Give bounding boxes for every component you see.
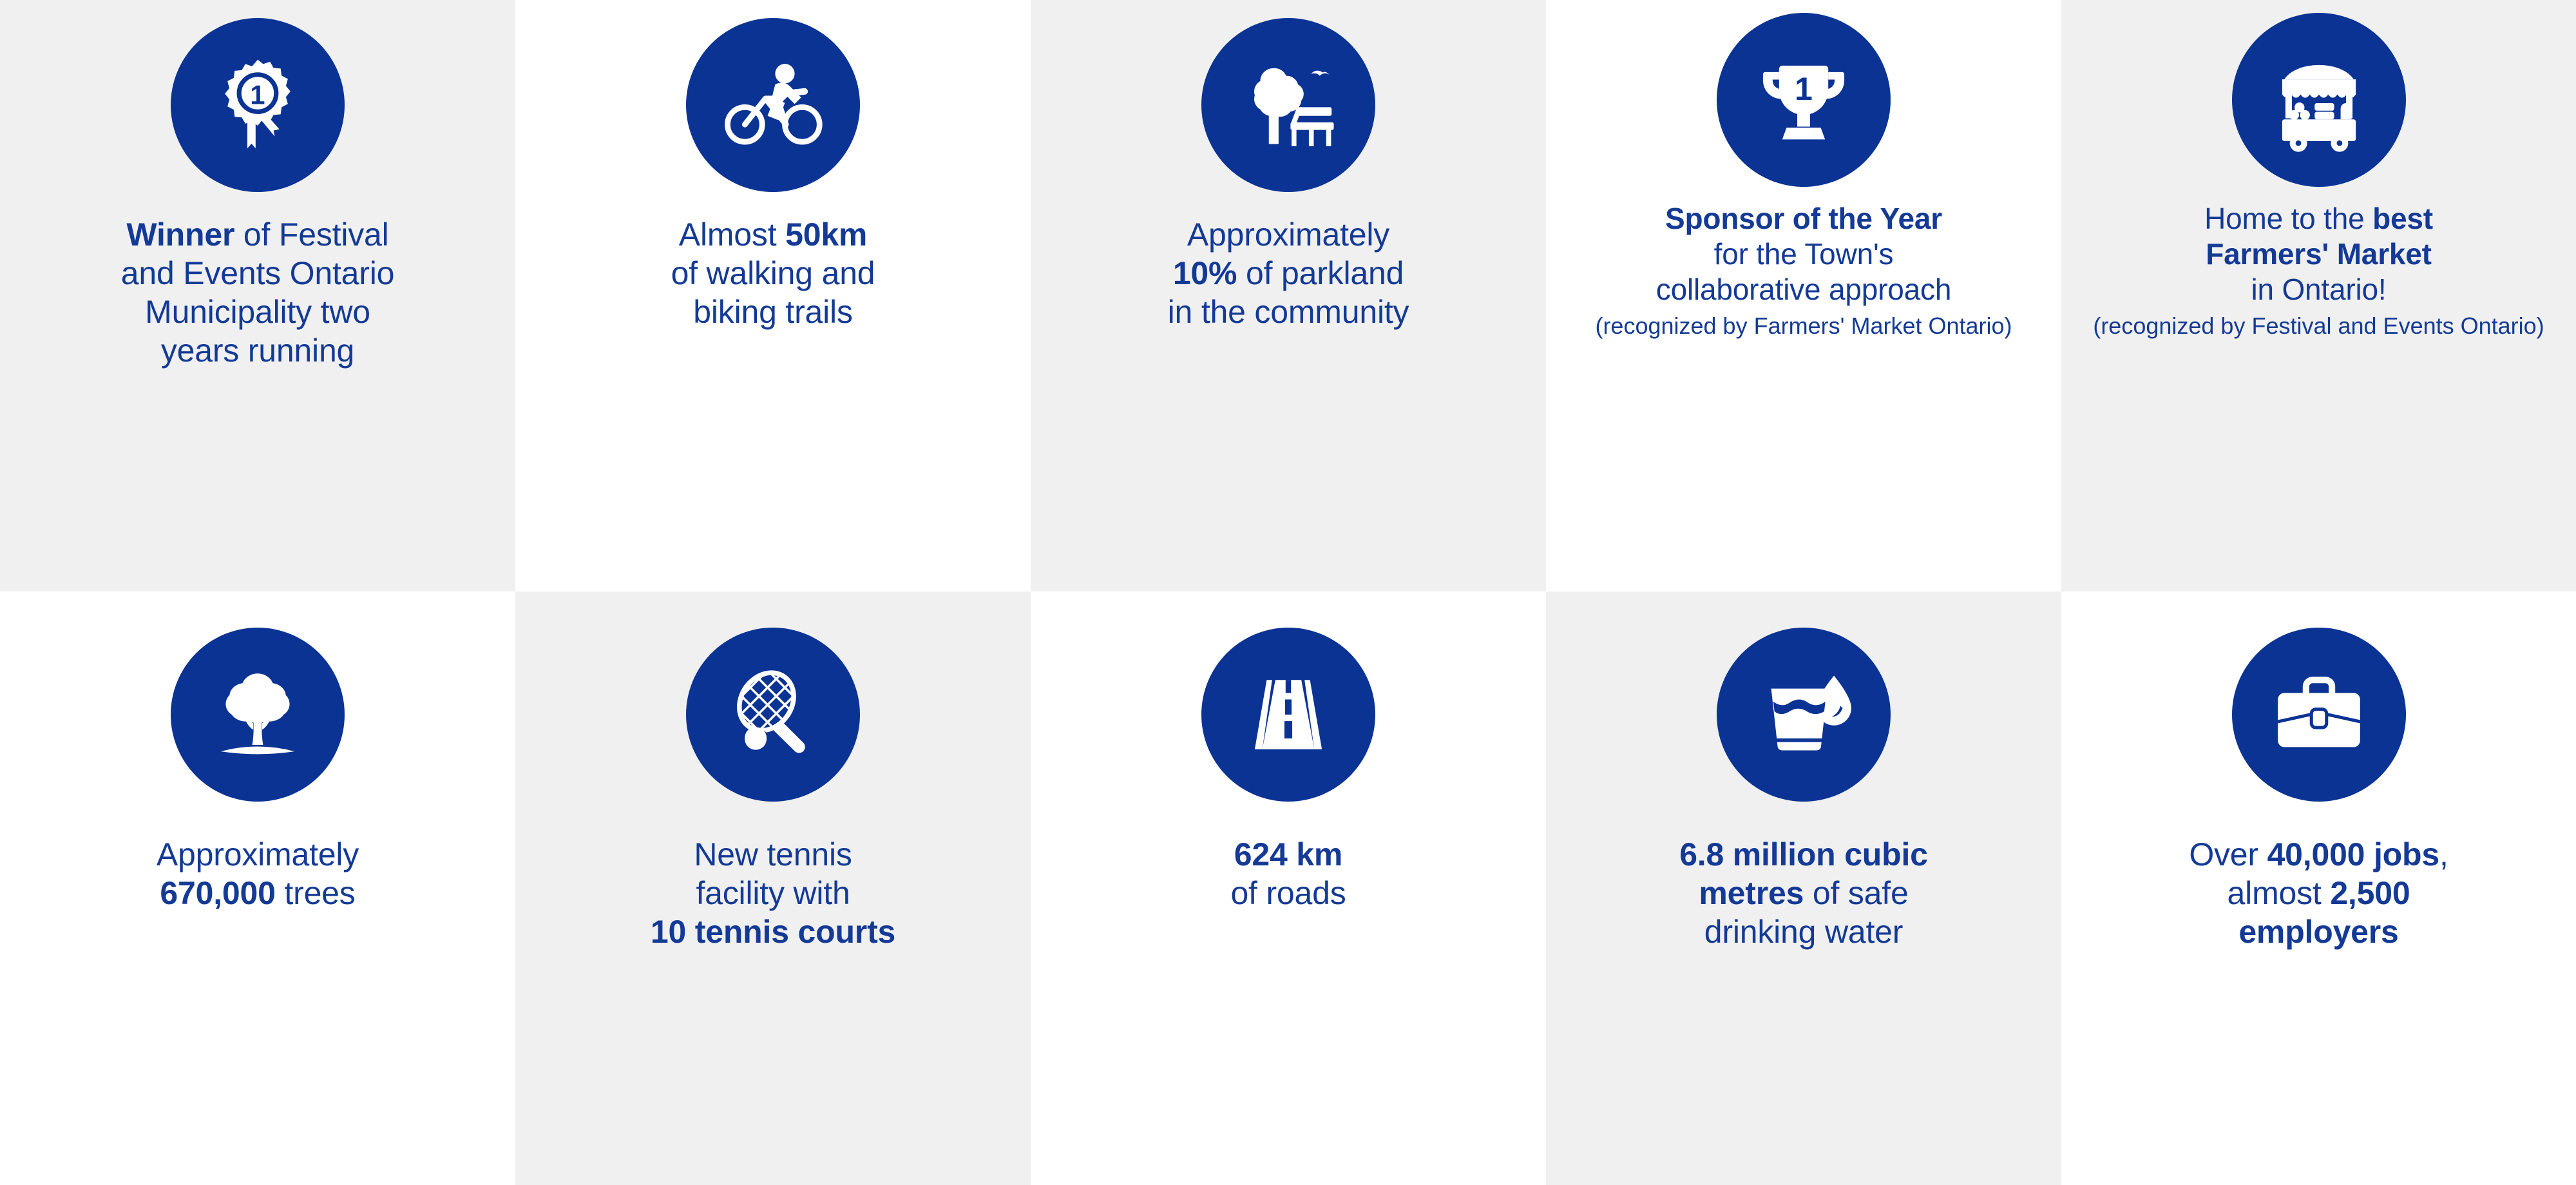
stat-cell-tennis-facility: New tennisfacility with10 tennis courts (515, 592, 1031, 1185)
stat-text-segment: trees (276, 875, 356, 911)
stat-text-segment: years running (161, 332, 354, 369)
stat-text-segment: Approximately (1187, 217, 1389, 253)
stat-text-walking-biking-trails: Almost 50kmof walking andbiking trails (532, 215, 1014, 331)
icon-badge-drinking-water (1717, 628, 1891, 802)
stat-caption-winner-festival-events: Winner of Festivaland Events OntarioMuni… (0, 215, 515, 370)
stat-text-segment: metres (1699, 875, 1804, 911)
stat-text-segment: New tennis (694, 836, 852, 872)
icon-badge-sponsor-of-the-year: 1 (1717, 13, 1891, 187)
stat-text-segment: of roads (1230, 875, 1346, 911)
icon-badge-roads-length (1201, 628, 1375, 802)
stat-text-segment: 624 km (1234, 836, 1342, 872)
stat-text-segment: Farmers' Market (2206, 237, 2432, 271)
icon-badge-tennis-facility (686, 628, 860, 802)
stat-text-trees-count: Approximately670,000 trees (17, 835, 499, 912)
stat-caption-jobs-employers: Over 40,000 jobs,almost 2,500employers (2061, 835, 2576, 951)
stat-caption-tennis-facility: New tennisfacility with10 tennis courts (515, 835, 1031, 951)
icon-badge-walking-biking-trails (686, 18, 860, 192)
stat-cell-drinking-water: 6.8 million cubicmetres of safedrinking … (1546, 592, 2061, 1185)
stat-text-segment: collaborative approach (1656, 273, 1951, 306)
stat-note-sponsor-of-the-year: (recognized by Farmers' Market Ontario) (1563, 312, 2045, 340)
stat-text-roads-length: 624 kmof roads (1047, 835, 1529, 912)
stat-text-segment: for the Town's (1714, 237, 1894, 271)
stat-text-segment: best (2372, 202, 2433, 235)
stat-text-jobs-employers: Over 40,000 jobs,almost 2,500employers (2078, 835, 2559, 951)
stat-text-segment: in the community (1168, 294, 1409, 330)
stat-text-segment: biking trails (693, 294, 853, 330)
icon-badge-trees-count (171, 628, 345, 802)
stat-caption-sponsor-of-the-year: Sponsor of the Yearfor the Town'scollabo… (1546, 201, 2061, 340)
stat-cell-winner-festival-events: 1 Winner of Festivaland Events OntarioMu… (0, 0, 515, 592)
stat-text-segment: facility with (696, 875, 850, 911)
stat-caption-best-farmers-market: Home to the bestFarmers' Marketin Ontari… (2061, 201, 2576, 340)
stat-text-segment: 50km (785, 217, 867, 253)
stat-cell-jobs-employers: Over 40,000 jobs,almost 2,500employers (2061, 592, 2576, 1185)
stat-caption-roads-length: 624 kmof roads (1031, 835, 1546, 912)
icon-badge-parkland-percentage (1201, 18, 1375, 192)
stat-cell-best-farmers-market: Home to the bestFarmers' Marketin Ontari… (2061, 0, 2576, 592)
stat-text-segment: 10% (1173, 255, 1237, 291)
stat-text-segment: 6.8 million cubic (1679, 836, 1928, 872)
stat-text-segment: Almost (679, 217, 785, 253)
stat-note-best-farmers-market: (recognized by Festival and Events Ontar… (2078, 312, 2559, 340)
stat-text-segment: of safe (1804, 875, 1908, 911)
tree-bench-bird-icon (1234, 51, 1342, 159)
market-cart-icon (2265, 46, 2373, 154)
icon-badge-jobs-employers (2232, 628, 2406, 802)
stat-caption-trees-count: Approximately670,000 trees (0, 835, 515, 912)
award-ribbon-icon: 1 (206, 53, 309, 157)
stat-text-segment: 10 tennis courts (651, 914, 895, 950)
svg-text:1: 1 (1795, 71, 1813, 107)
stat-text-segment: Home to the (2204, 202, 2372, 235)
single-tree-icon (204, 660, 312, 769)
stat-text-segment: Municipality two (145, 294, 370, 330)
stat-cell-walking-biking-trails: Almost 50kmof walking andbiking trails (515, 0, 1031, 592)
stat-text-segment: Over (2189, 836, 2267, 872)
stat-text-segment: Sponsor of the Year (1665, 202, 1942, 235)
stat-text-segment: almost (2228, 875, 2331, 911)
stat-caption-walking-biking-trails: Almost 50kmof walking andbiking trails (515, 215, 1031, 331)
stat-text-segment: Approximately (157, 836, 359, 872)
stat-cell-parkland-percentage: Approximately10% of parklandin the commu… (1031, 0, 1546, 592)
stat-text-segment: in Ontario! (2251, 273, 2386, 306)
stat-text-drinking-water: 6.8 million cubicmetres of safedrinking … (1563, 835, 2045, 951)
stat-text-segment: of parkland (1237, 255, 1404, 291)
stat-text-sponsor-of-the-year: Sponsor of the Yearfor the Town'scollabo… (1563, 201, 2045, 308)
stats-grid: 1 Winner of Festivaland Events OntarioMu… (0, 0, 2576, 1185)
stat-cell-trees-count: Approximately670,000 trees (0, 592, 515, 1185)
road-icon (1234, 660, 1342, 769)
stat-text-segment: Winner (126, 217, 234, 253)
stat-cell-roads-length: 624 kmof roads (1031, 592, 1546, 1185)
briefcase-icon (2265, 660, 2373, 769)
stat-cell-sponsor-of-the-year: 1 Sponsor of the Yearfor the Town'scolla… (1546, 0, 2061, 592)
icon-badge-best-farmers-market (2232, 13, 2406, 187)
stat-caption-parkland-percentage: Approximately10% of parklandin the commu… (1031, 215, 1546, 331)
tennis-racket-icon (719, 660, 827, 769)
stat-text-segment: , (2439, 836, 2448, 872)
stat-caption-drinking-water: 6.8 million cubicmetres of safedrinking … (1546, 835, 2061, 951)
icon-badge-winner-festival-events: 1 (171, 18, 345, 192)
stat-text-winner-festival-events: Winner of Festivaland Events OntarioMuni… (17, 215, 499, 370)
stat-text-segment: of Festival (234, 217, 388, 253)
stat-text-segment: 670,000 (160, 875, 275, 911)
stat-text-segment: drinking water (1704, 914, 1903, 950)
stat-text-parkland-percentage: Approximately10% of parklandin the commu… (1047, 215, 1529, 331)
stat-text-tennis-facility: New tennisfacility with10 tennis courts (532, 835, 1014, 951)
stat-text-segment: and Events Ontario (121, 255, 394, 291)
stat-text-segment: of walking and (671, 255, 875, 291)
trophy-icon: 1 (1750, 46, 1857, 153)
stat-text-segment: 40,000 jobs (2267, 836, 2439, 872)
water-glass-droplet-icon (1750, 660, 1858, 769)
stat-text-best-farmers-market: Home to the bestFarmers' Marketin Ontari… (2078, 201, 2559, 308)
stat-text-segment: 2,500 (2330, 875, 2410, 911)
cyclist-icon (719, 51, 827, 159)
stat-text-segment: employers (2238, 914, 2398, 950)
svg-text:1: 1 (250, 79, 265, 110)
